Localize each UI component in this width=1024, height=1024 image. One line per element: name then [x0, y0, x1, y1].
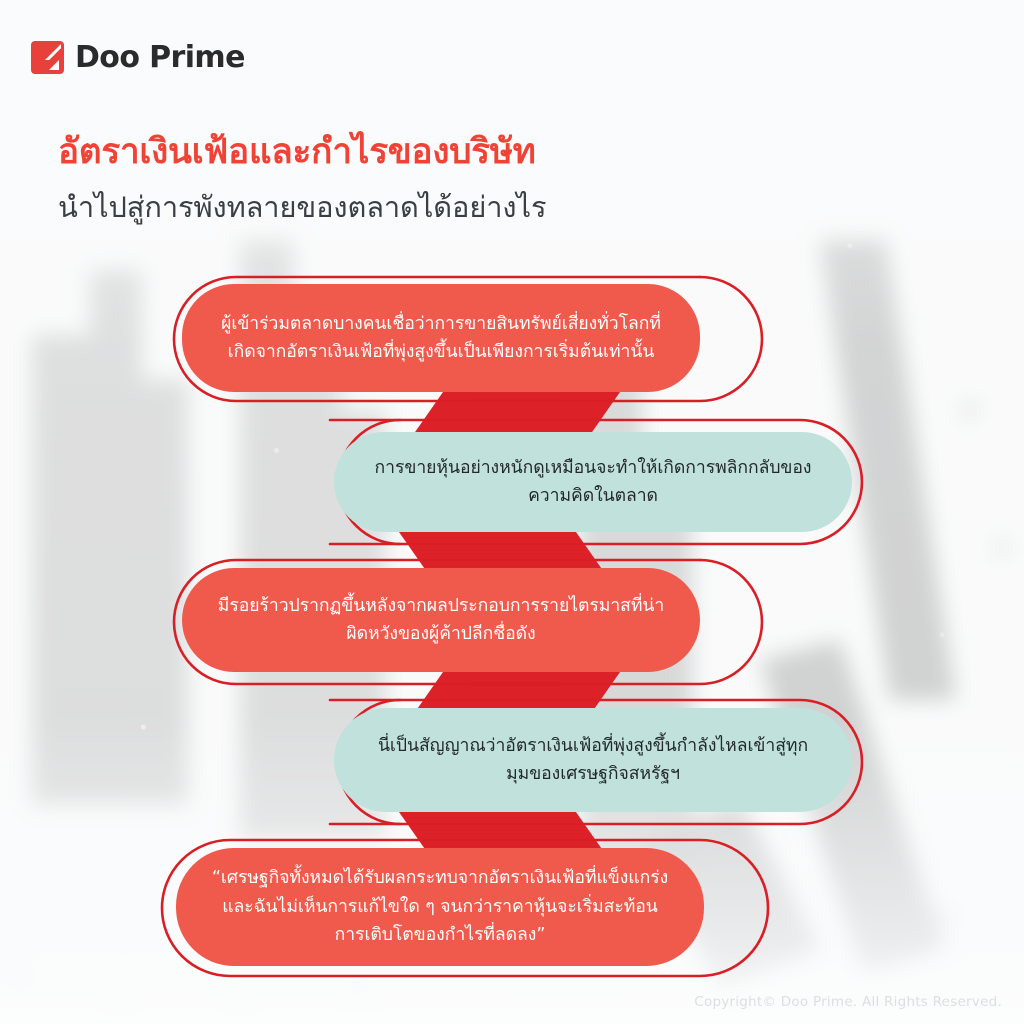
flow-card-5-text: “เศรษฐกิจทั้งหมดได้รับผลกระทบจากอัตราเงิ… [210, 864, 670, 950]
brand-wordmark: Doo Prime [75, 43, 245, 73]
infographic-canvas: Doo Prime อัตราเงินเฟ้อและกำไรของบริษัท … [0, 0, 1024, 1024]
flow-card-1-text: ผู้เข้าร่วมตลาดบางคนเชื่อว่าการขายสินทรั… [216, 310, 666, 367]
doo-prime-logo-mark-icon [31, 41, 64, 74]
flow-card-3[interactable]: มีรอยร้าวปรากฏขึ้นหลังจากผลประกอบการรายไ… [182, 568, 700, 672]
flow-card-4-text: นี่เป็นสัญญาณว่าอัตราเงินเฟ้อที่พุ่งสูงข… [368, 732, 818, 789]
copyright-notice: Copyright© Doo Prime. All Rights Reserve… [694, 994, 1002, 1010]
flow-card-1[interactable]: ผู้เข้าร่วมตลาดบางคนเชื่อว่าการขายสินทรั… [182, 284, 700, 392]
flow-card-3-text: มีรอยร้าวปรากฏขึ้นหลังจากผลประกอบการรายไ… [216, 592, 666, 649]
flow-card-2-text: การขายหุ้นอย่างหนักดูเหมือนจะทำให้เกิดกา… [368, 454, 818, 511]
flow-card-4[interactable]: นี่เป็นสัญญาณว่าอัตราเงินเฟ้อที่พุ่งสูงข… [334, 708, 852, 812]
page-subtitle: นำไปสู่การพังทลายของตลาดได้อย่างไร [58, 189, 546, 225]
logo-slash-shape [45, 44, 61, 60]
page-title: อัตราเงินเฟ้อและกำไรของบริษัท [58, 132, 536, 173]
brand-logo[interactable]: Doo Prime [31, 41, 245, 74]
flow-card-5[interactable]: “เศรษฐกิจทั้งหมดได้รับผลกระทบจากอัตราเงิ… [176, 848, 704, 966]
logo-corner-shape [49, 60, 59, 70]
flow-card-2[interactable]: การขายหุ้นอย่างหนักดูเหมือนจะทำให้เกิดกา… [334, 432, 852, 532]
